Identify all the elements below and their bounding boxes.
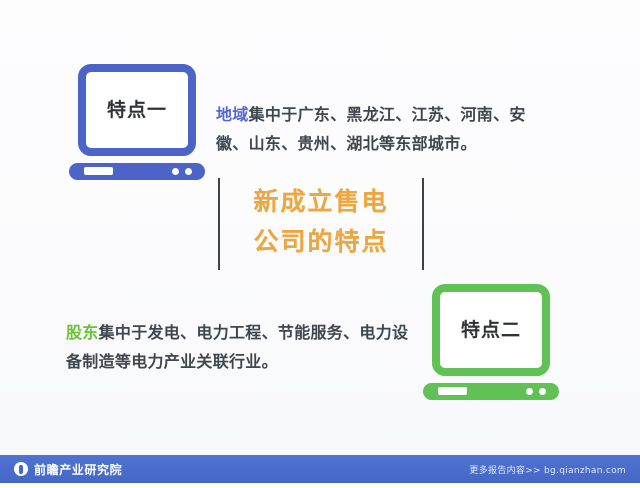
laptop-port-dot-icon-two-a [526, 388, 533, 395]
laptop-port-dot-icon-two-b [539, 388, 546, 395]
infographic-poster: 特点一 地域集中于广东、黑龙江、江苏、河南、安徽、山东、贵州、湖北等东部城市。 … [0, 0, 640, 488]
center-title-block: 新成立售电 公司的特点 [218, 178, 424, 270]
laptop-icon-feature-one: 特点一 [78, 64, 205, 180]
laptop-screen-label-feature-two: 特点二 [461, 321, 521, 340]
laptop-screen-feature-two: 特点二 [432, 284, 550, 376]
feature-one-keyword: 地域 [216, 105, 249, 124]
laptop-trackpad-icon-two [438, 387, 467, 395]
divider-line-right [422, 178, 424, 270]
laptop-trackpad-icon-one [84, 167, 113, 175]
laptop-screen-label-feature-one: 特点一 [107, 101, 167, 120]
poster-title-line-2: 公司的特点 [236, 222, 406, 262]
laptop-icon-feature-two: 特点二 [432, 284, 559, 400]
feature-two-keyword: 股东 [66, 323, 99, 342]
footer-brand: 前瞻产业研究院 [14, 461, 122, 478]
laptop-base-feature-one [69, 163, 205, 180]
laptop-port-dot-icon-one-b [185, 168, 192, 175]
divider-line-left [218, 178, 220, 270]
feature-one-description: 地域集中于广东、黑龙江、江苏、河南、安徽、山东、贵州、湖北等东部城市。 [216, 100, 544, 158]
feature-two-description: 股东集中于发电、电力工程、节能服务、电力设备制造等电力产业关联行业。 [66, 318, 414, 376]
footer-bar: 前瞻产业研究院 更多报告内容>> bg.qianzhan.com [0, 455, 640, 483]
footer-bottom-margin [0, 483, 640, 488]
poster-title: 新成立售电 公司的特点 [236, 182, 406, 262]
laptop-base-feature-two [423, 383, 559, 400]
qianzhan-circle-icon [14, 462, 28, 476]
footer-brand-name: 前瞻产业研究院 [34, 461, 122, 478]
poster-title-line-1: 新成立售电 [236, 182, 406, 222]
feature-one-body-line1: 集中于广东、黑龙江、江苏、河南、 [249, 105, 510, 124]
laptop-screen-feature-one: 特点一 [78, 64, 196, 156]
footer-report-link[interactable]: 更多报告内容>> bg.qianzhan.com [469, 463, 626, 476]
feature-two-body-line1: 集中于发电、电力工程、节能服务、 [99, 323, 360, 342]
laptop-port-dot-icon-one-a [172, 168, 179, 175]
